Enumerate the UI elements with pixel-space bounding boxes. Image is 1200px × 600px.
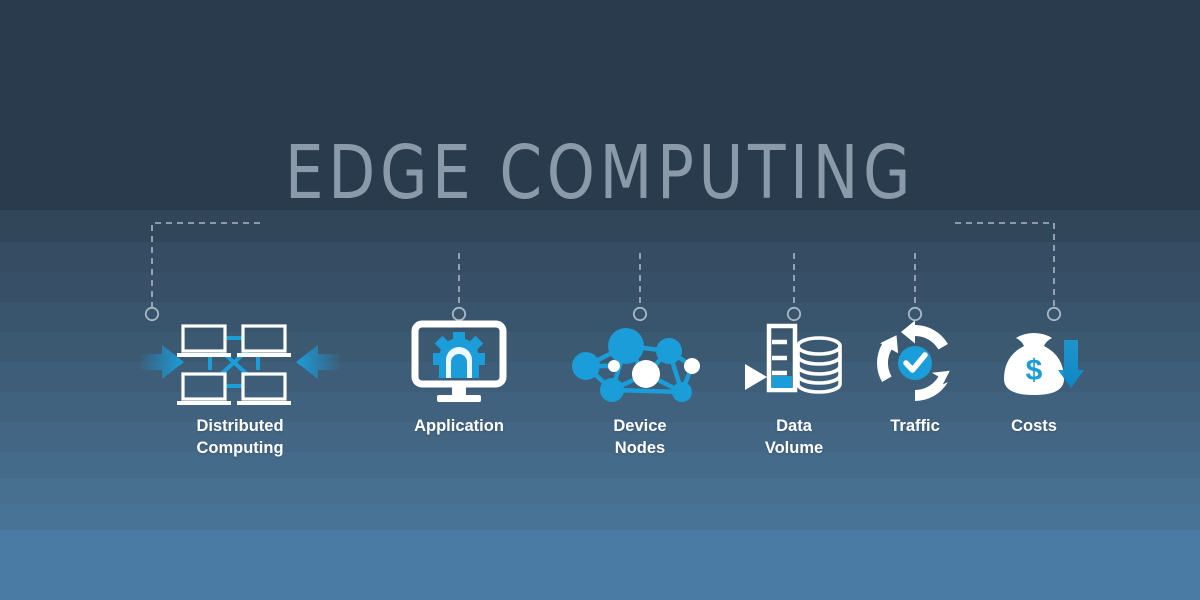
gauge-icon <box>769 326 795 390</box>
item-device-nodes[interactable]: Device Nodes <box>560 318 720 460</box>
connector-lines <box>0 0 1200 600</box>
item-label: Application <box>389 416 529 438</box>
connector-line <box>955 223 1054 307</box>
inbound-arrow-left-icon <box>140 345 184 379</box>
dollar-sign-icon: $ <box>1026 354 1043 387</box>
pointer-triangle-icon <box>745 364 767 390</box>
database-icon <box>798 338 840 392</box>
money-bag-down-arrow-icon: $ <box>974 318 1094 406</box>
gauge-database-icon <box>724 318 864 406</box>
item-label: Distributed Computing <box>140 416 340 460</box>
item-label: Data Volume <box>724 416 864 460</box>
item-costs[interactable]: $ Costs <box>974 318 1094 438</box>
connector-line <box>152 223 260 307</box>
monitor-gear-icon <box>389 318 529 406</box>
gear-icon <box>433 332 485 378</box>
item-distributed-computing[interactable]: Distributed Computing <box>140 318 340 460</box>
item-label: Costs <box>974 416 1094 438</box>
item-label: Device Nodes <box>560 416 720 460</box>
distributed-computing-icon <box>140 318 340 406</box>
item-label: Traffic <box>855 416 975 438</box>
item-application[interactable]: Application <box>389 318 529 438</box>
item-traffic[interactable]: Traffic <box>855 318 975 438</box>
inbound-arrow-right-icon <box>296 345 340 379</box>
refresh-check-icon <box>855 318 975 406</box>
infographic-canvas: EDGE COMPUTING <box>0 0 1200 600</box>
item-data-volume[interactable]: Data Volume <box>724 318 864 460</box>
network-nodes-icon <box>560 318 720 406</box>
